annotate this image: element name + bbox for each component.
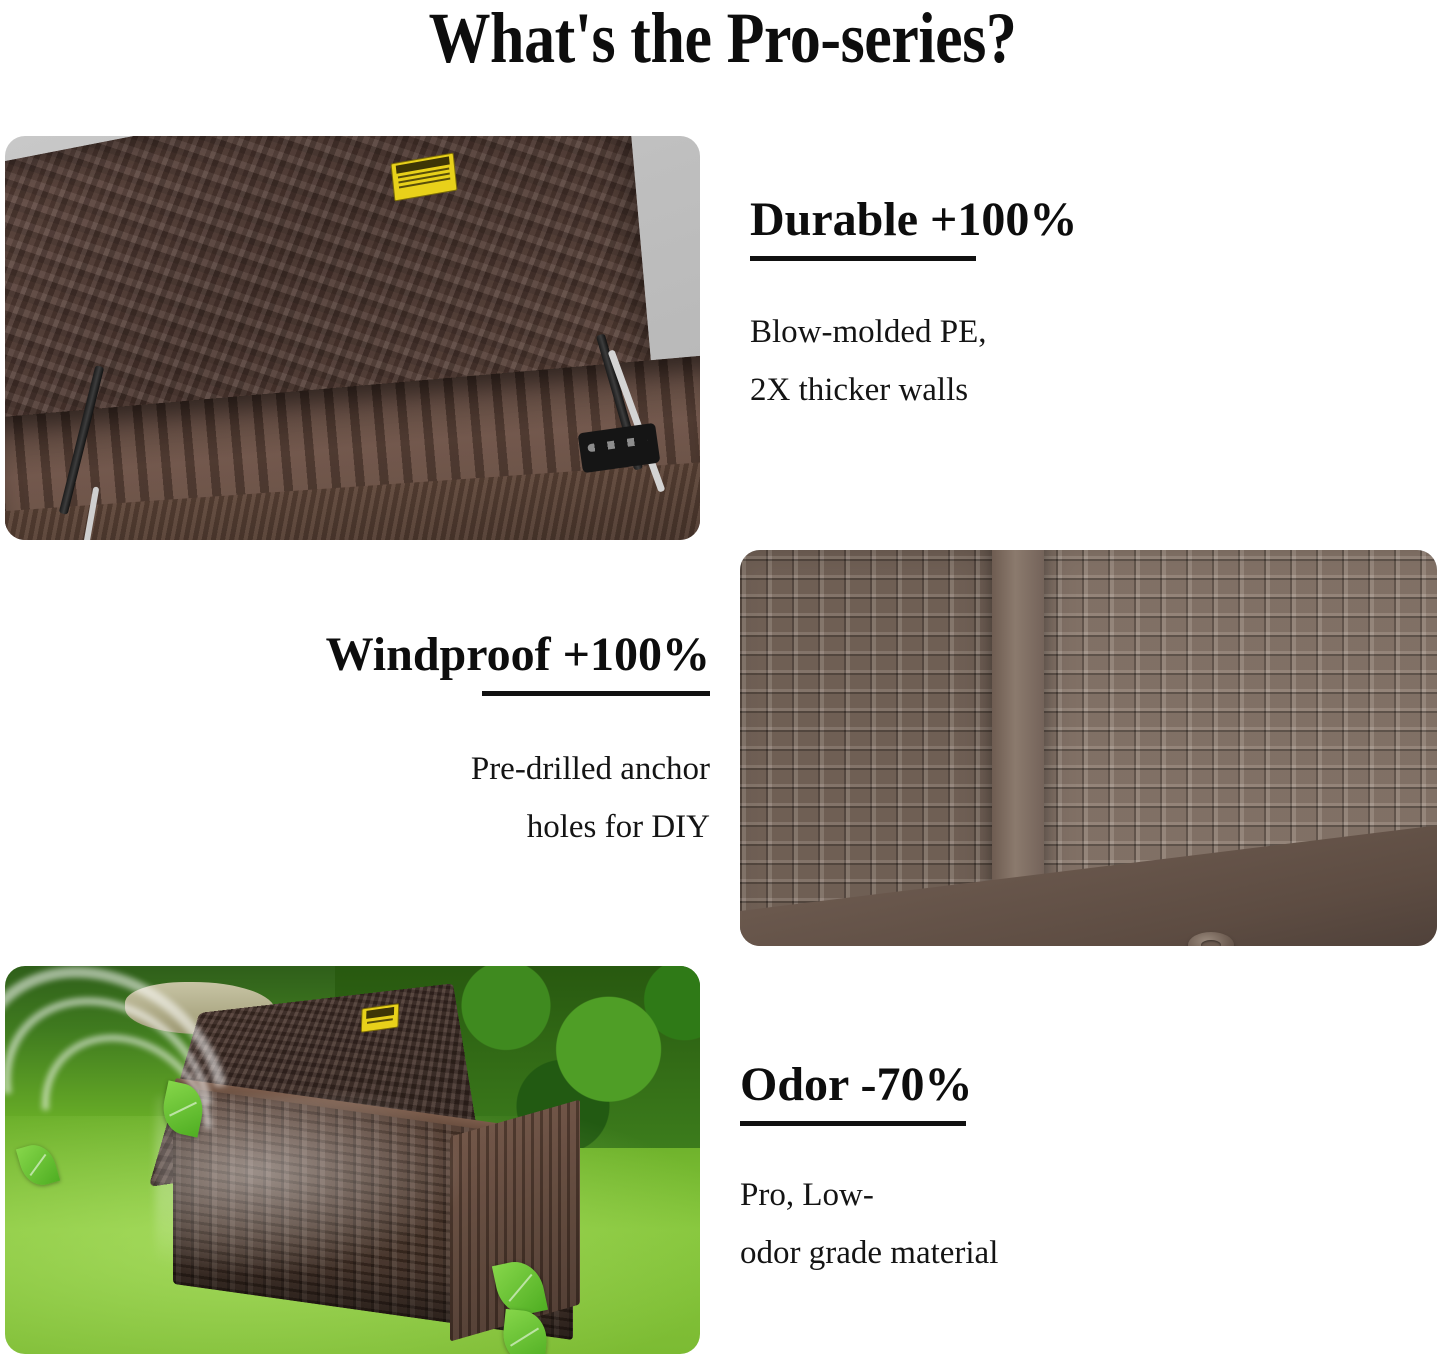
feature-underline-odor (740, 1121, 966, 1126)
warning-label-header (366, 1007, 394, 1019)
page-title: What's the Pro-series? (101, 0, 1344, 78)
feature-heading-windproof: Windproof +100% (205, 627, 710, 683)
feature-body-line: holes for DIY (205, 798, 710, 856)
feature-block-windproof: Windproof +100% Pre-drilled anchor holes… (205, 627, 710, 856)
feature-body-line: 2X thicker walls (750, 361, 1270, 419)
photo-durable-lid-open (5, 136, 700, 540)
feature-block-odor: Odor -70% Pro, Low- odor grade material (740, 1057, 1260, 1282)
warning-label-text-line (367, 1018, 393, 1024)
feature-body-odor: Pro, Low- odor grade material (740, 1166, 1260, 1282)
feature-underline-windproof (482, 691, 710, 696)
feature-underline-durable (750, 256, 976, 261)
photo-windproof-wicker-corner (740, 550, 1437, 946)
photo-odor-lawn-scene (5, 966, 700, 1354)
feature-block-durable: Durable +100% Blow-molded PE, 2X thicker… (750, 192, 1270, 419)
feature-body-line: Pre-drilled anchor (205, 740, 710, 798)
feature-body-line: Pro, Low- (740, 1166, 1260, 1224)
feature-heading-odor: Odor -70% (740, 1057, 1260, 1113)
feature-body-line: odor grade material (740, 1224, 1260, 1282)
feature-heading-durable: Durable +100% (750, 192, 1270, 248)
feature-body-windproof: Pre-drilled anchor holes for DIY (205, 740, 710, 856)
feature-body-line: Blow-molded PE, (750, 303, 1270, 361)
feature-body-durable: Blow-molded PE, 2X thicker walls (750, 303, 1270, 419)
